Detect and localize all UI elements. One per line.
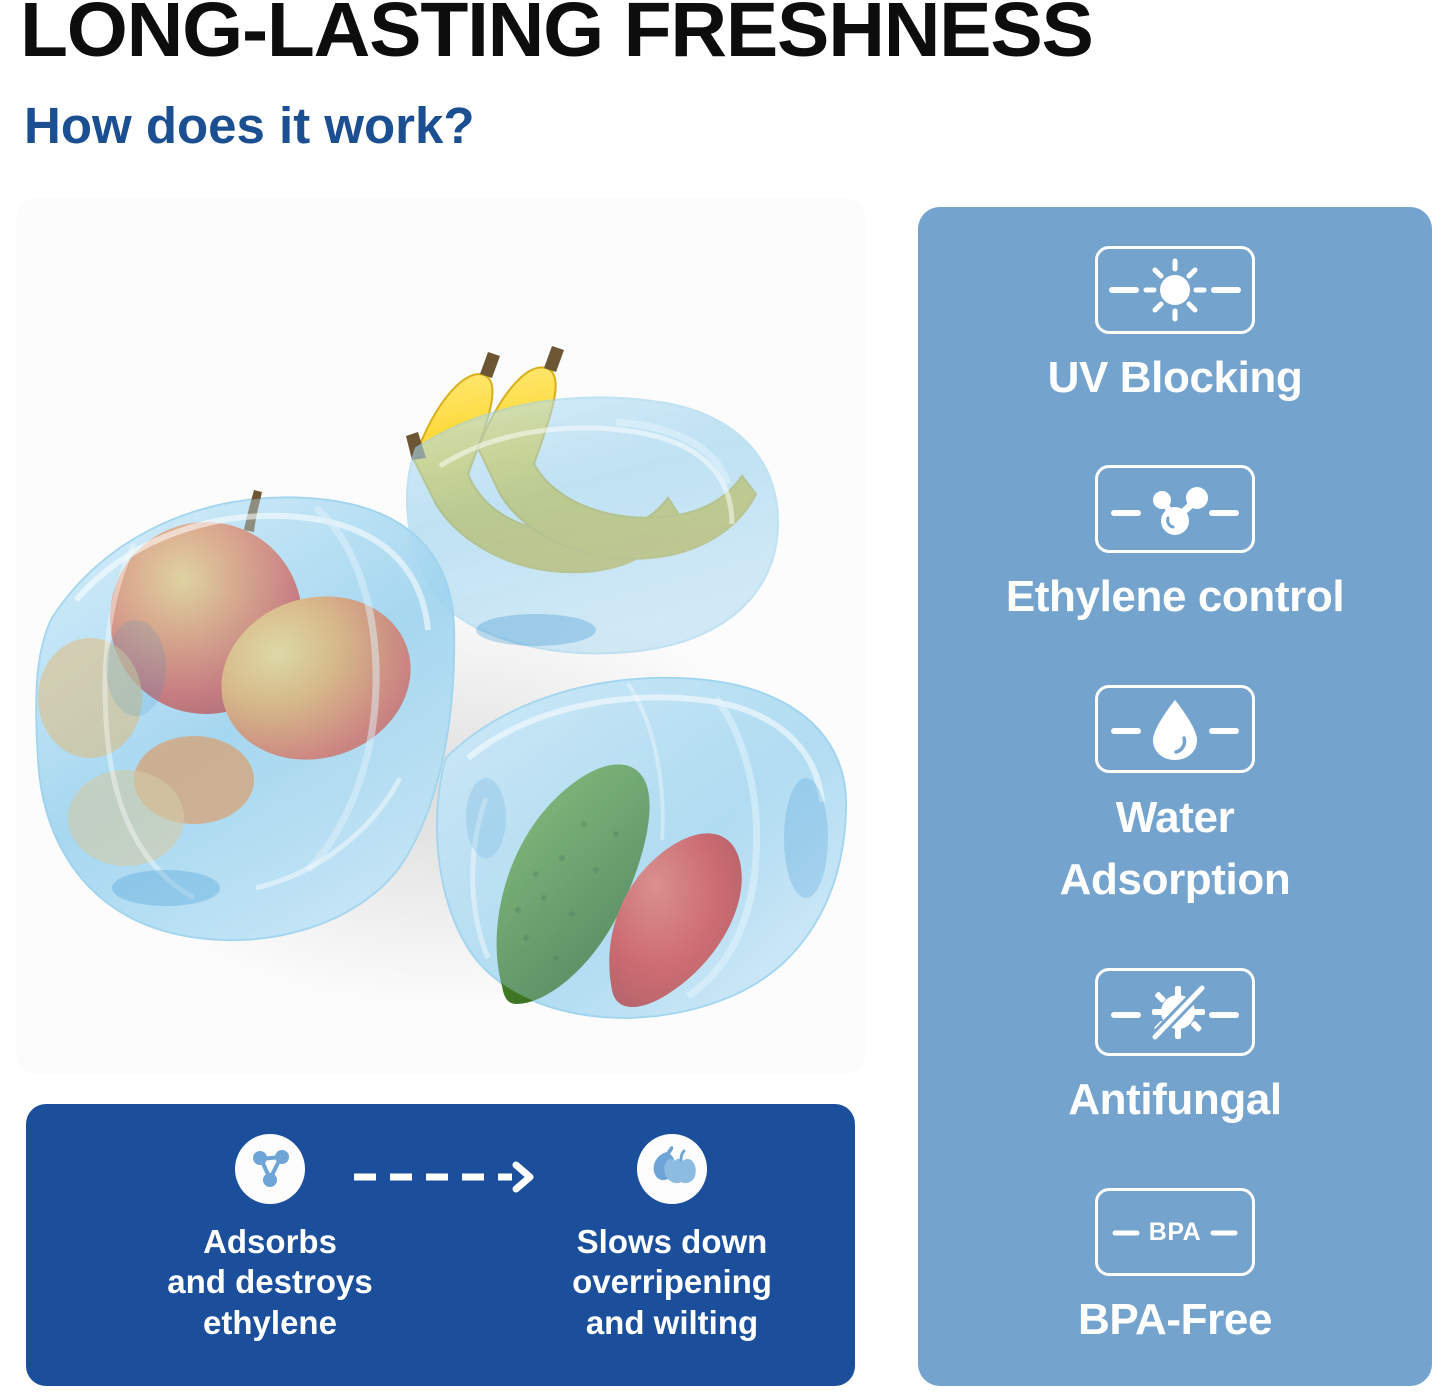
step-line: and wilting — [542, 1303, 802, 1343]
dashed-arrow-right-icon — [352, 1160, 536, 1194]
step-line: Adsorbs — [140, 1222, 400, 1262]
molecule-network-icon — [235, 1134, 305, 1204]
feature-label-line: Water — [918, 787, 1432, 849]
feature-label: UV Blocking — [918, 348, 1432, 409]
step-line: overripening — [542, 1262, 802, 1302]
feature-bpa-free: BPA BPA-Free — [918, 1188, 1432, 1351]
features-panel: UV Blocking Ethylene control — [918, 207, 1432, 1386]
product-photo-panel — [16, 198, 866, 1074]
fruit-bags-illustration — [16, 198, 866, 1074]
process-step-label: Slows down overripening and wilting — [542, 1222, 802, 1343]
feature-label-line: Adsorption — [918, 849, 1432, 911]
page-title: LONG-LASTING FRESHNESS — [20, 0, 1093, 69]
feature-ethylene-control: Ethylene control — [918, 465, 1432, 628]
bpa-text-icon: BPA — [1095, 1188, 1255, 1276]
product-photo — [16, 198, 866, 1074]
ethylene-molecule-icon — [1095, 465, 1255, 553]
process-card: Adsorbs and destroys ethylene Slows down… — [26, 1104, 855, 1386]
feature-label-line: UV Blocking — [918, 348, 1432, 409]
water-drop-icon — [1095, 685, 1255, 773]
feature-label: Water Adsorption — [918, 787, 1432, 910]
page-subtitle: How does it work? — [24, 100, 475, 151]
feature-label-line: Antifungal — [918, 1070, 1432, 1131]
step-line: and destroys — [140, 1262, 400, 1302]
feature-label-line: Ethylene control — [918, 567, 1432, 628]
process-step-label: Adsorbs and destroys ethylene — [140, 1222, 400, 1343]
feature-label: BPA-Free — [918, 1290, 1432, 1351]
step-line: Slows down — [542, 1222, 802, 1262]
feature-antifungal: Antifungal — [918, 968, 1432, 1131]
feature-label-line: BPA-Free — [918, 1290, 1432, 1351]
sun-uv-icon — [1095, 246, 1255, 334]
feature-water-adsorption: Water Adsorption — [918, 685, 1432, 910]
germ-blocked-icon — [1095, 968, 1255, 1056]
step-line: ethylene — [140, 1303, 400, 1343]
process-step-slow-ripening: Slows down overripening and wilting — [542, 1134, 802, 1343]
pear-and-apple-icon — [637, 1134, 707, 1204]
feature-uv-blocking: UV Blocking — [918, 246, 1432, 409]
bpa-icon-label: BPA — [1098, 1191, 1252, 1273]
feature-label: Ethylene control — [918, 567, 1432, 628]
feature-label: Antifungal — [918, 1070, 1432, 1131]
